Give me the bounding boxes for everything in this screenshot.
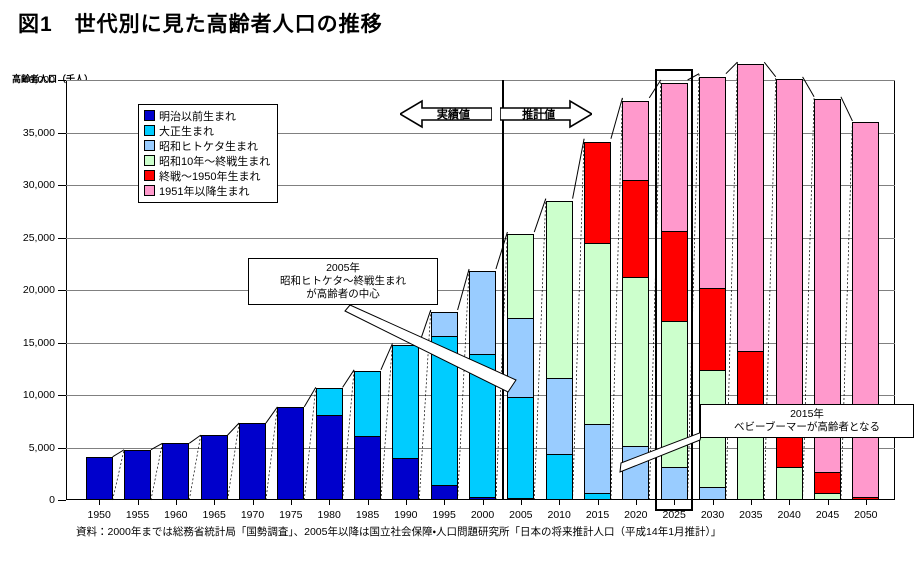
callout-2005-line1: 2005年 <box>257 262 429 275</box>
callout-2015-line2: ベビーブーマーが高齢者となる <box>709 421 905 434</box>
callout-2015: 2015年 ベビーブーマーが高齢者となる <box>700 404 914 438</box>
callout-2015-line1: 2015年 <box>709 408 905 421</box>
callout-2015-leader <box>0 0 915 568</box>
callout-2005-line2: 昭和ヒトケタ～終戦生まれ <box>257 275 429 288</box>
callout-2005: 2005年 昭和ヒトケタ～終戦生まれ が高齢者の中心 <box>248 258 438 305</box>
callout-2005-line3: が高齢者の中心 <box>257 288 429 301</box>
